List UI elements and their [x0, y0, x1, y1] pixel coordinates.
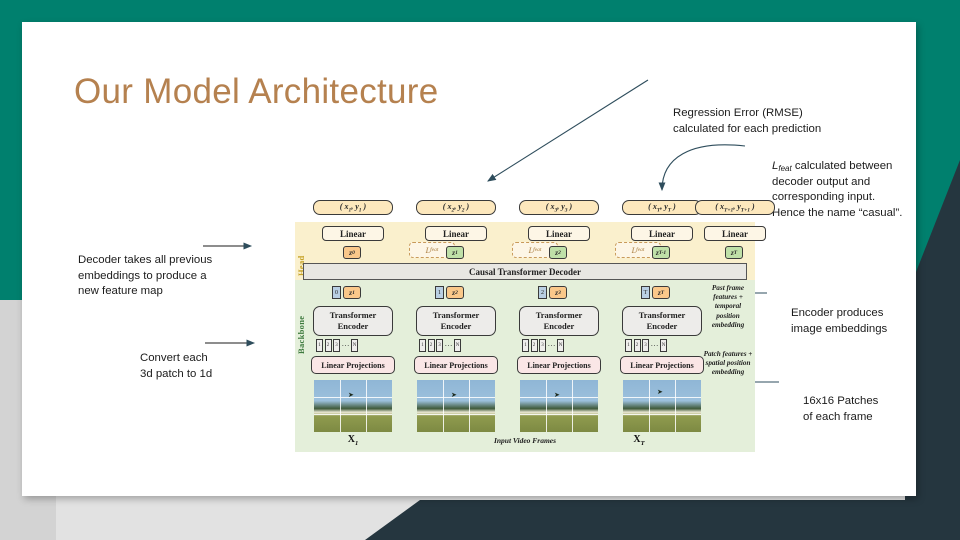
video-frame-thumbnail: ➤ [623, 380, 701, 432]
coord-text: ( x3, y3 ) [546, 202, 572, 214]
linear-projections-box: Linear Projections [414, 356, 498, 374]
input-video-frames-caption: Input Video Frames [460, 436, 590, 445]
patch-token: 3 [539, 339, 546, 352]
video-frame-thumbnail: ➤ [314, 380, 392, 432]
target-coordinate-box: ( x3, y3 ) [519, 200, 599, 215]
backbone-embedding-token: zT [652, 286, 670, 299]
patch-token: 1 [419, 339, 426, 352]
patch-token: 2 [634, 339, 641, 352]
video-frame-thumbnail: ➤ [417, 380, 495, 432]
frame-caption: X1 [305, 434, 401, 447]
drone-icon: ➤ [451, 391, 457, 399]
patch-token: 3 [436, 339, 443, 352]
note-temporal-embedding: Past frame features + temporal position … [703, 284, 753, 330]
encoder-line1: Transformer [330, 310, 377, 321]
band-label-backbone: Backbone [296, 284, 306, 354]
linear-box: Linear [631, 226, 693, 241]
head-embedding-token: z2 [549, 246, 567, 259]
patch-token-row: 123···N [625, 339, 699, 352]
causal-transformer-decoder: Causal Transformer Decoder [303, 263, 747, 280]
patch-token: N [454, 339, 461, 352]
transformer-encoder-box: TransformerEncoder [416, 306, 496, 336]
video-frame-thumbnail: ➤ [520, 380, 598, 432]
patch-token-ellipsis: ··· [548, 342, 556, 350]
encoder-line2: Encoder [338, 321, 369, 332]
drone-icon: ➤ [657, 388, 663, 396]
note-spatial-embedding: Patch features + spatial position embedd… [703, 350, 753, 378]
encoder-line2: Encoder [544, 321, 575, 332]
loss-symbol-sub: feat [430, 247, 438, 253]
coord-text: ( xT, yT ) [648, 202, 676, 214]
target-coordinate-box: ( x2, y2 ) [416, 200, 496, 215]
architecture-figure: Head Backbone Causal Transformer Decoder… [275, 198, 755, 452]
target-coordinate-box: ( xT+1, yT+1 ) [695, 200, 775, 215]
patch-token: N [557, 339, 564, 352]
coord-text: ( x1, y1 ) [340, 202, 366, 214]
linear-projections-box: Linear Projections [620, 356, 704, 374]
transformer-encoder-box: TransformerEncoder [622, 306, 702, 336]
drone-icon: ➤ [348, 391, 354, 399]
patch-token: 3 [642, 339, 649, 352]
linear-projections-box: Linear Projections [311, 356, 395, 374]
linear-box: Linear [425, 226, 487, 241]
position-index-box: 2 [538, 286, 547, 299]
encoder-line2: Encoder [647, 321, 678, 332]
patch-token: N [351, 339, 358, 352]
loss-symbol-sub: feat [636, 247, 644, 253]
leader-lfeat [662, 145, 745, 190]
patch-token-ellipsis: ··· [651, 342, 659, 350]
backbone-embedding-token: z1 [343, 286, 361, 299]
backbone-embedding-token: z3 [549, 286, 567, 299]
backbone-embedding-token: z2 [446, 286, 464, 299]
head-embedding-token: zT-1 [652, 246, 670, 259]
position-index-box: 0 [332, 286, 341, 299]
position-index-box: T [641, 286, 650, 299]
patch-token: N [660, 339, 667, 352]
linear-projections-box: Linear Projections [517, 356, 601, 374]
target-coordinate-box: ( x1, y1 ) [313, 200, 393, 215]
patch-token: 1 [522, 339, 529, 352]
head-embedding-token: z0 [343, 246, 361, 259]
transformer-encoder-box: TransformerEncoder [313, 306, 393, 336]
coord-text: ( x2, y2 ) [443, 202, 469, 214]
leader-rmse [488, 80, 648, 181]
linear-box: Linear [704, 226, 766, 241]
loss-symbol-sub: feat [533, 247, 541, 253]
patch-token: 2 [428, 339, 435, 352]
encoder-line1: Transformer [433, 310, 480, 321]
patch-token: 1 [625, 339, 632, 352]
patch-token-row: 123···N [522, 339, 596, 352]
drone-icon: ➤ [554, 391, 560, 399]
patch-token-ellipsis: ··· [445, 342, 453, 350]
patch-token-row: 123···N [316, 339, 390, 352]
target-coordinate-box: ( xT, yT ) [622, 200, 702, 215]
encoder-line2: Encoder [441, 321, 472, 332]
frame-caption: XT [591, 434, 687, 447]
position-index-box: 1 [435, 286, 444, 299]
patch-token-row: 123···N [419, 339, 493, 352]
patch-token: 3 [333, 339, 340, 352]
linear-box: Linear [322, 226, 384, 241]
transformer-encoder-box: TransformerEncoder [519, 306, 599, 336]
patch-token: 2 [325, 339, 332, 352]
patch-token: 2 [531, 339, 538, 352]
coord-text: ( xT+1, yT+1 ) [715, 202, 754, 214]
slide-canvas: Our Model Architecture Regression Error … [22, 22, 916, 496]
head-embedding-token: z1 [446, 246, 464, 259]
encoder-line1: Transformer [536, 310, 583, 321]
encoder-line1: Transformer [639, 310, 686, 321]
linear-box: Linear [528, 226, 590, 241]
head-embedding-token: zT [725, 246, 743, 259]
patch-token: 1 [316, 339, 323, 352]
patch-token-ellipsis: ··· [342, 342, 350, 350]
